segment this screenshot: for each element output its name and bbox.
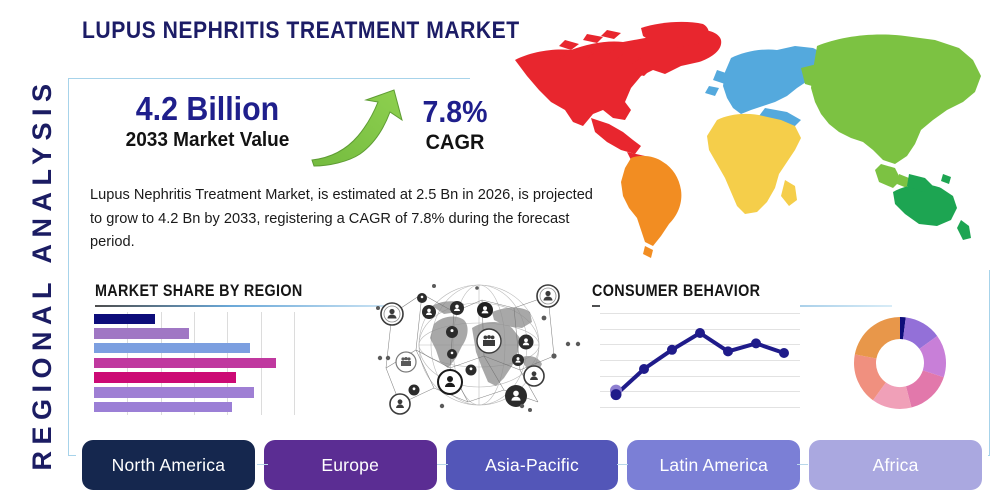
section-market-share-rule	[95, 305, 395, 307]
region-button-label: Latin America	[659, 455, 768, 476]
bar-chart-bar	[94, 328, 189, 339]
region-button-asia-pacific[interactable]: Asia-Pacific	[446, 440, 619, 490]
region-connector	[437, 464, 448, 465]
bar-chart-bar	[94, 314, 155, 325]
hero-market-value-block: 4.2 Billion 2033 Market Value	[95, 92, 320, 151]
region-connector	[617, 464, 628, 465]
region-connector	[797, 464, 808, 465]
hero-cagr-block: 7.8% CAGR	[395, 96, 515, 154]
region-button-north-america[interactable]: North America	[82, 440, 255, 490]
donut-segment	[906, 370, 944, 407]
region-buttons-bar: North AmericaEuropeAsia-PacificLatin Ame…	[82, 440, 982, 490]
consumer-behavior-line-chart	[600, 305, 800, 415]
section-market-share: MARKET SHARE BY REGION	[95, 282, 395, 307]
hero-market-value: 4.2 Billion	[104, 92, 311, 127]
section-market-share-title: MARKET SHARE BY REGION	[95, 282, 356, 301]
region-button-label: Asia-Pacific	[485, 455, 579, 476]
market-share-bar-chart	[94, 312, 309, 415]
region-connector	[257, 464, 268, 465]
hero-stats: 4.2 Billion 2033 Market Value 7.8% CAGR	[95, 92, 505, 170]
line-chart-series	[600, 305, 800, 415]
region-button-label: North America	[112, 455, 225, 476]
globe-network-icon	[372, 272, 587, 422]
page-title: LUPUS NEPHRITIS TREATMENT MARKET	[82, 17, 520, 45]
bar-chart-bar	[94, 372, 236, 383]
side-label-regional-analysis: REGIONAL ANALYSIS	[20, 74, 64, 474]
bar-chart-bars	[94, 312, 309, 415]
section-consumer-behavior: CONSUMER BEHAVIOR	[592, 282, 892, 307]
bar-chart-bar	[94, 343, 250, 354]
region-button-africa[interactable]: Africa	[809, 440, 982, 490]
region-button-label: Europe	[321, 455, 379, 476]
region-button-label: Africa	[873, 455, 919, 476]
hero-cagr-caption: CAGR	[398, 131, 512, 154]
segment-donut-chart	[852, 315, 948, 411]
hero-cagr-value: 7.8%	[400, 96, 510, 129]
hero-market-value-caption: 2033 Market Value	[101, 129, 315, 151]
bar-chart-bar	[94, 387, 254, 398]
infographic-root: REGIONAL ANALYSIS LUPUS NEPH	[0, 0, 1000, 500]
summary-paragraph: Lupus Nephritis Treatment Market, is est…	[90, 184, 605, 255]
bar-chart-bar	[94, 358, 276, 369]
donut-segment	[855, 317, 900, 359]
bar-chart-bar	[94, 402, 232, 413]
region-button-latin-america[interactable]: Latin America	[627, 440, 800, 490]
section-consumer-behavior-title: CONSUMER BEHAVIOR	[592, 282, 853, 301]
region-button-europe[interactable]: Europe	[264, 440, 437, 490]
